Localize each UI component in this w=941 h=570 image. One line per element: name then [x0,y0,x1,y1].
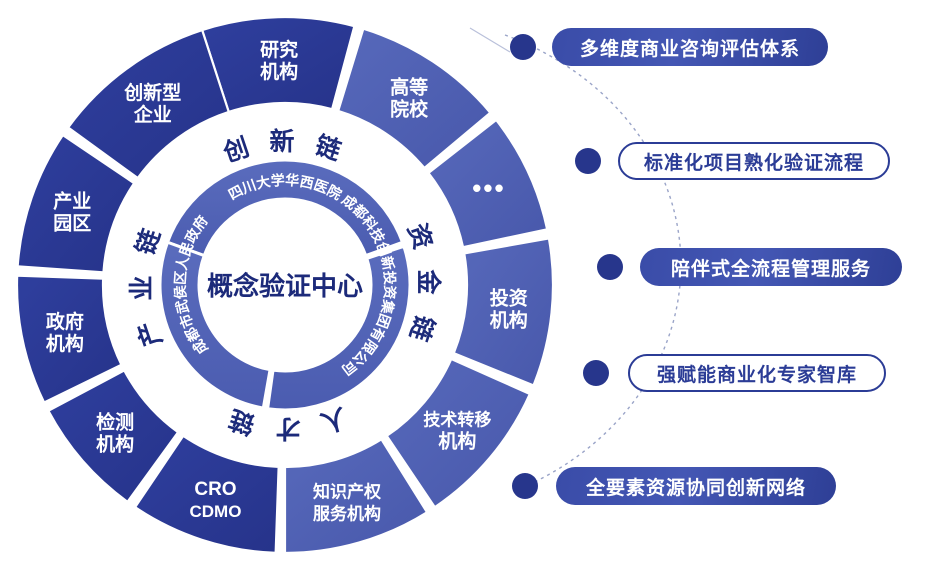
callout-pill-4[interactable]: 强赋能商业化专家智库 [628,354,886,392]
outer-segment-label: 企业 [133,103,172,126]
outer-segment-label: 园区 [53,213,91,235]
outer-segment-label: 研究 [260,38,298,61]
outer-segment-label: 政府 [46,310,84,333]
callout-dot-4 [583,360,609,386]
callout-pill-5[interactable]: 全要素资源协同创新网络 [556,467,836,505]
connector-tick-line [470,28,510,52]
ecosystem-diagram: 概念验证中心 创 新 链 产 业 链 资 金 链 人 才 链 四川大学华西医院 … [0,0,941,570]
outer-segment-label: 机构 [46,332,84,355]
callout-pill-1[interactable]: 多维度商业咨询评估体系 [552,28,828,66]
outer-segment-label: 知识产权 [312,481,382,501]
outer-segment-label: CRO [194,479,236,500]
outer-segment-label: 服务机构 [313,503,381,523]
outer-segment-label: CDMO [189,502,241,521]
outer-segment-label: 机构 [438,430,476,453]
outer-segment-label: 技术转移 [423,410,491,430]
callout-dot-3 [597,254,623,280]
callout-dot-1 [510,34,536,60]
outer-segment-label: 高等 [390,75,428,98]
outer-segment-label: 检测 [96,411,134,434]
outer-segment-label: 院校 [390,97,429,120]
outer-segment-label: 机构 [490,309,528,332]
outer-segment-label: 机构 [96,433,134,456]
callout-dot-2 [575,148,601,174]
callout-dot-5 [512,473,538,499]
outer-segment-label: 创新型 [123,81,181,104]
outer-segment-label: 投资 [490,287,528,310]
outer-segment-label: 机构 [260,60,298,83]
callout-pill-3[interactable]: 陪伴式全流程管理服务 [640,248,902,286]
center-label: 概念验证中心 [207,271,363,301]
outer-segment-label: ••• [472,173,505,203]
callout-pill-2[interactable]: 标准化项目熟化验证流程 [618,142,890,180]
outer-segment-label: 产业 [53,190,91,213]
